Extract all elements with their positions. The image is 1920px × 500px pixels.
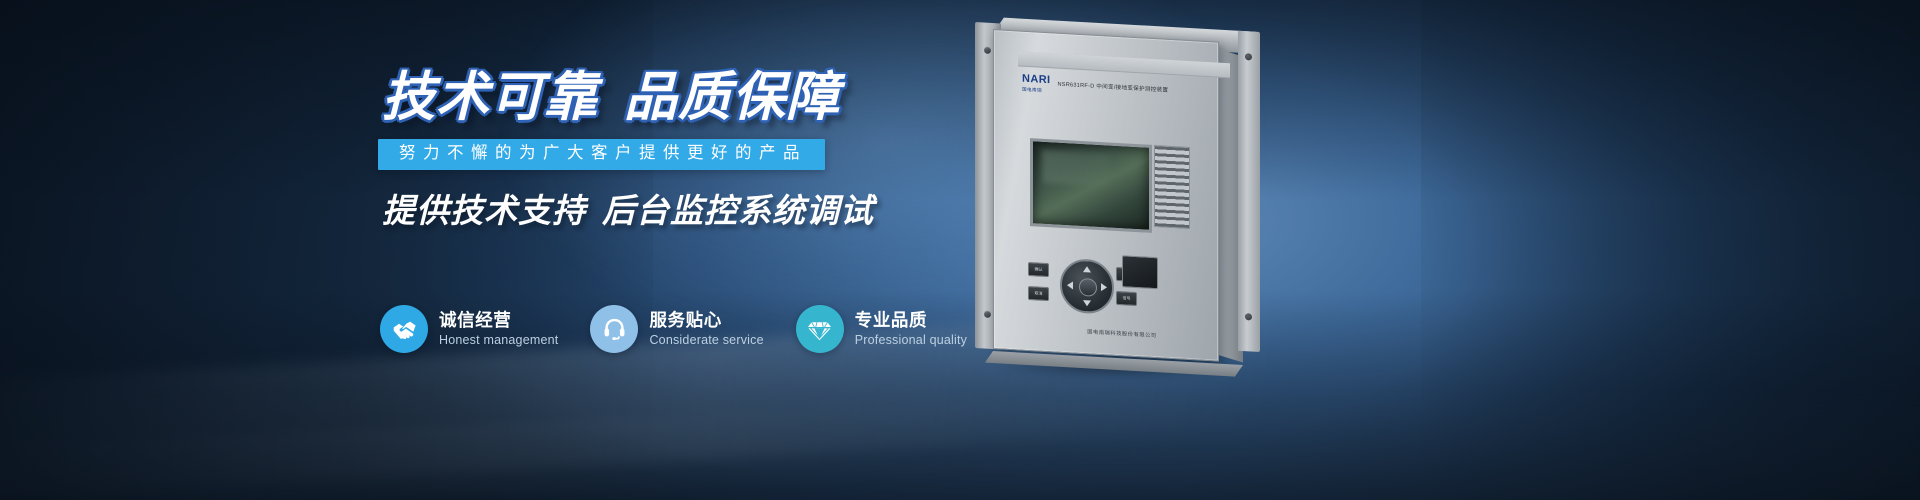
device-button-confirm[interactable]: 确认 (1028, 262, 1049, 277)
product-device-image: NARI 国电南瑞 NSR631RF-D 中间变/接地变保护测控装置 确认 取消… (975, 14, 1260, 370)
device-front-panel: NARI 国电南瑞 NSR631RF-D 中间变/接地变保护测控装置 确认 取消… (993, 29, 1219, 362)
secondary-headline-part-2: 后台监控系统调试 (602, 192, 874, 229)
feature-list: 诚信经营 Honest management 服务贴心 Considerate … (380, 305, 967, 353)
headset-icon (590, 305, 638, 353)
arrow-down-icon[interactable] (1083, 300, 1091, 306)
device-button-signal[interactable]: 信号 (1116, 291, 1137, 306)
handshake-icon (380, 305, 428, 353)
feature-title-cn: 专业品质 (855, 310, 967, 331)
device-brand-name: NARI (1022, 74, 1051, 87)
arrow-up-icon[interactable] (1083, 266, 1091, 272)
primary-headline: 技术可靠品质保障 (382, 70, 898, 126)
device-keypad: 确认 取消 复归 信号 (1028, 254, 1198, 326)
secondary-headline: 提供技术支持后台监控系统调试 (382, 184, 898, 232)
device-vent-grille (1154, 145, 1190, 229)
primary-headline-part-2: 品质保障 (624, 68, 840, 127)
feature-text: 诚信经营 Honest management (439, 310, 558, 348)
mounting-hole-icon (1245, 53, 1252, 60)
device-right-mounting-flange (1238, 31, 1260, 352)
feature-title-en: Considerate service (649, 333, 763, 348)
device-lcd-screen (1030, 138, 1152, 233)
feature-title-en: Professional quality (855, 333, 967, 348)
feature-title-cn: 诚信经营 (439, 310, 558, 331)
feature-item-professional-quality: 专业品质 Professional quality (796, 305, 967, 353)
mounting-hole-icon (984, 47, 991, 54)
arrow-right-icon[interactable] (1101, 283, 1107, 291)
feature-title-en: Honest management (439, 333, 558, 348)
primary-headline-part-1: 技术可靠 (382, 68, 598, 127)
diamond-icon (796, 305, 844, 353)
feature-text: 专业品质 Professional quality (855, 310, 967, 348)
feature-title-cn: 服务贴心 (649, 310, 763, 331)
feature-item-honest-management: 诚信经营 Honest management (380, 305, 558, 353)
dpad-center-button[interactable] (1079, 278, 1097, 297)
device-model-label: NSR631RF-D 中间变/接地变保护测控装置 (1058, 80, 1169, 94)
promo-banner: 技术可靠品质保障 努力不懈的为广大客户提供更好的产品 提供技术支持后台监控系统调… (0, 0, 1920, 500)
device-directional-pad[interactable] (1060, 258, 1114, 315)
arrow-left-icon[interactable] (1067, 281, 1073, 289)
device-brand-name-cn: 国电南瑞 (1022, 87, 1051, 95)
tagline-bar: 努力不懈的为广大客户提供更好的产品 (378, 139, 825, 170)
device-button-cancel[interactable]: 取消 (1028, 286, 1049, 301)
device-logo: NARI 国电南瑞 (1022, 74, 1051, 95)
background-vignette (0, 0, 1920, 500)
device-communication-port (1122, 255, 1158, 289)
device-branding: NARI 国电南瑞 NSR631RF-D 中间变/接地变保护测控装置 (1022, 74, 1228, 105)
mounting-hole-icon (984, 311, 991, 318)
secondary-headline-part-1: 提供技术支持 (382, 192, 586, 229)
feature-text: 服务贴心 Considerate service (649, 310, 763, 348)
feature-item-considerate-service: 服务贴心 Considerate service (590, 305, 763, 353)
tagline-text: 努力不懈的为广大客户提供更好的产品 (396, 144, 807, 164)
banner-copy: 技术可靠品质保障 努力不懈的为广大客户提供更好的产品 提供技术支持后台监控系统调… (378, 70, 898, 232)
mounting-hole-icon (1245, 313, 1252, 320)
device-footer-text: 国电南瑞科技股份有限公司 (1022, 325, 1222, 343)
